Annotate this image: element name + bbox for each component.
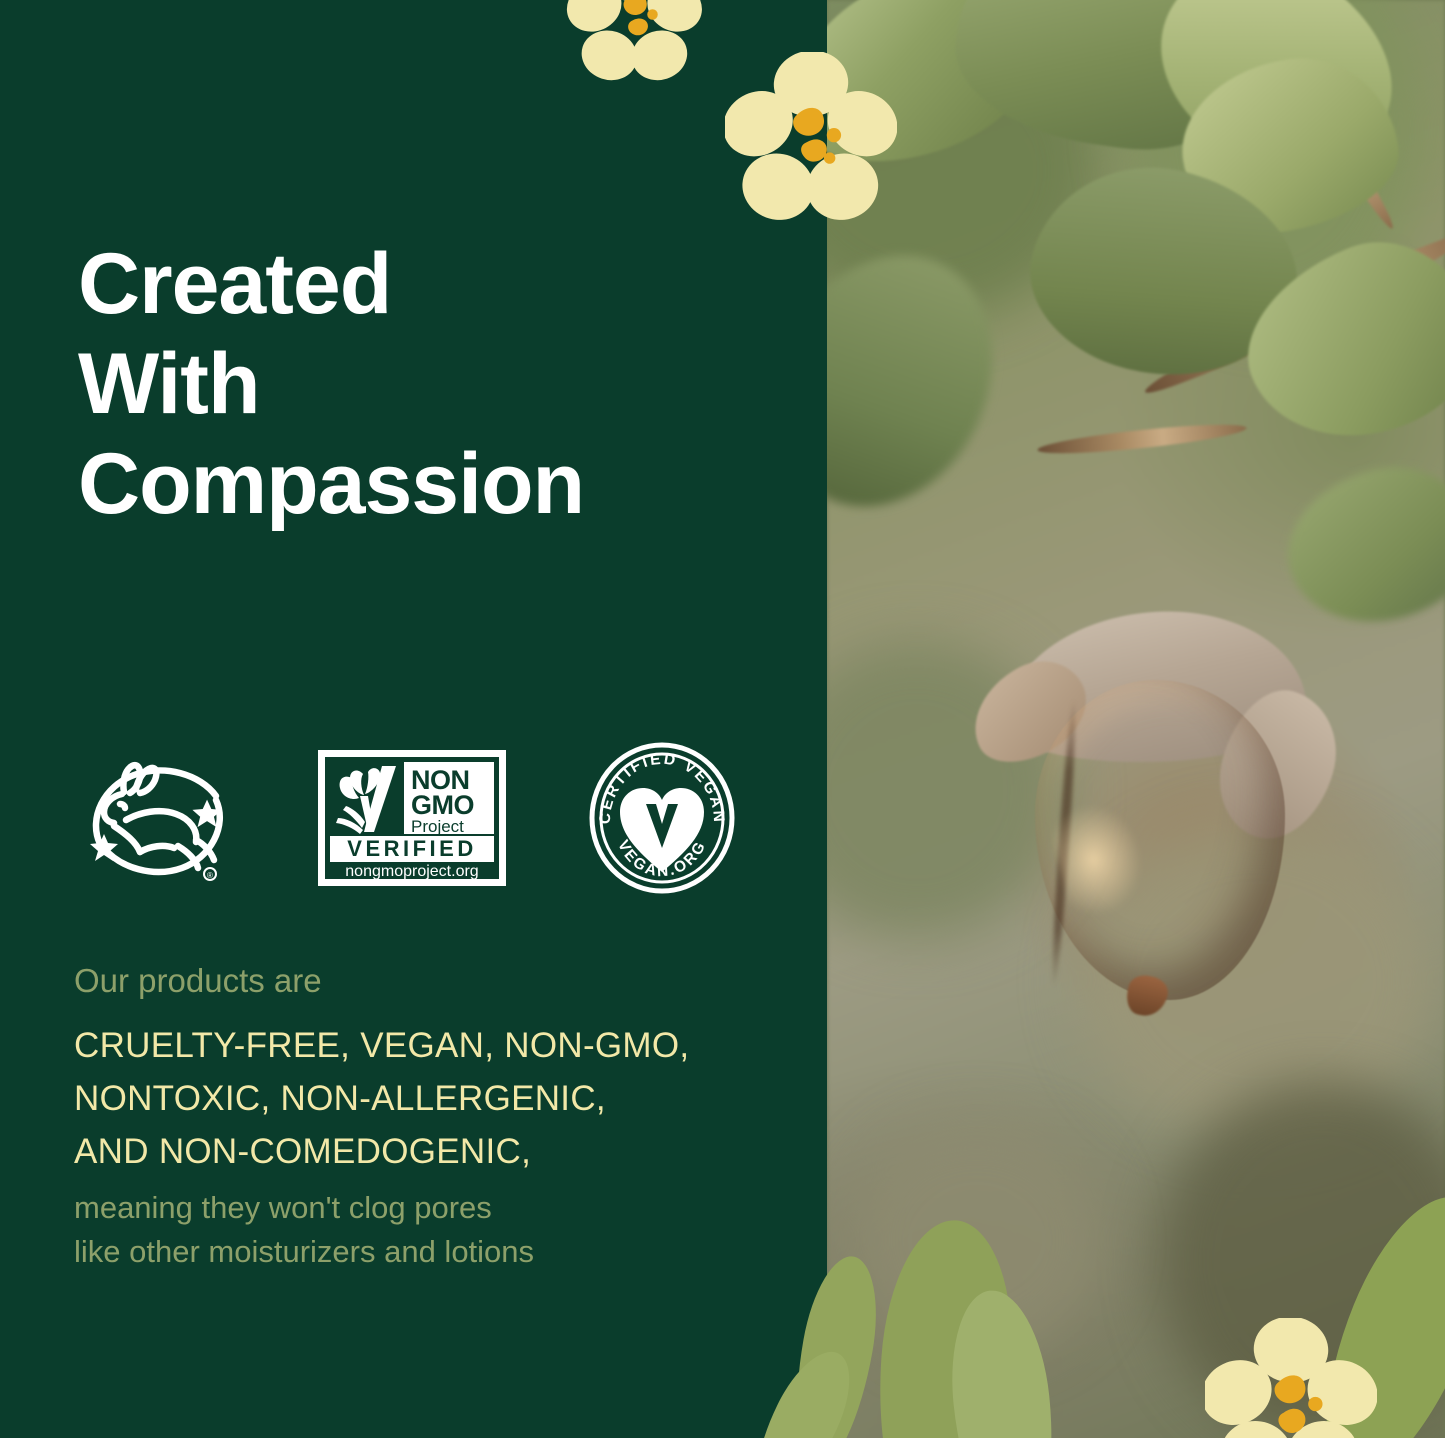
non-gmo-project-icon: NON GMO Project VERIFIED nongmoproject.o… xyxy=(316,748,508,888)
body-copy: Our products are CRUELTY-FREE, VEGAN, NO… xyxy=(74,958,794,1274)
copy-intro: Our products are xyxy=(74,958,794,1005)
certified-vegan-icon: CERTIFIED VEGAN VEGAN.ORG xyxy=(586,742,738,894)
page-title: Created With Compassion xyxy=(78,235,584,534)
copy-claim-3: AND NON-COMEDOGENIC, xyxy=(74,1125,794,1178)
certified-vegan-badge: CERTIFIED VEGAN VEGAN.ORG xyxy=(586,742,738,899)
leaping-bunny-badge: ® xyxy=(78,748,238,893)
copy-note-1: meaning they won't clog pores xyxy=(74,1186,794,1230)
non-gmo-line2: GMO xyxy=(411,790,474,820)
content-panel: Created With Compassion xyxy=(0,0,827,1444)
non-gmo-badge: NON GMO Project VERIFIED nongmoproject.o… xyxy=(316,748,508,893)
bottom-edge xyxy=(0,1438,1445,1444)
copy-claim-2: NONTOXIC, NON-ALLERGENIC, xyxy=(74,1072,794,1125)
jojoba-photo xyxy=(827,0,1445,1444)
non-gmo-verified: VERIFIED xyxy=(347,836,476,861)
copy-note-2: like other moisturizers and lotions xyxy=(74,1230,794,1274)
leaping-bunny-icon: ® xyxy=(78,748,238,888)
non-gmo-url: nongmoproject.org xyxy=(345,863,478,880)
poster: Created With Compassion xyxy=(0,0,1445,1444)
copy-claim-1: CRUELTY-FREE, VEGAN, NON-GMO, xyxy=(74,1019,794,1072)
registered-mark: ® xyxy=(207,871,213,880)
jojoba-nut xyxy=(987,620,1317,1020)
certification-badges: ® xyxy=(78,742,738,899)
non-gmo-line3: Project xyxy=(411,817,464,836)
